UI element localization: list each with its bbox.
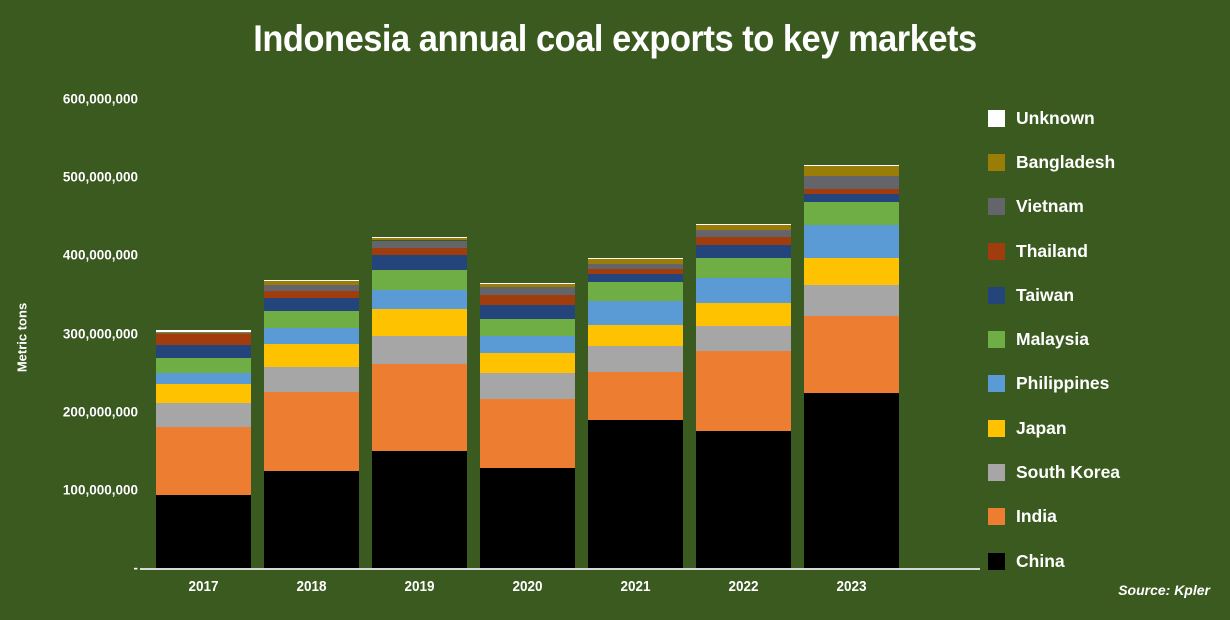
legend-label: Unknown xyxy=(1016,108,1095,129)
bar-segment-philippines[interactable] xyxy=(588,301,683,324)
bar-segment-malaysia[interactable] xyxy=(156,358,251,373)
stacked-bar[interactable] xyxy=(156,330,251,568)
bar-segment-thailand[interactable] xyxy=(696,237,791,246)
y-axis: Metric tons 600,000,000500,000,000400,00… xyxy=(0,0,148,620)
bar-segment-bangladesh[interactable] xyxy=(156,332,251,333)
y-axis-tick-label: 400,000,000 xyxy=(63,248,138,263)
legend-swatch-icon xyxy=(988,420,1005,437)
bar-group[interactable] xyxy=(804,99,899,568)
bar-segment-philippines[interactable] xyxy=(372,290,467,310)
stacked-bar[interactable] xyxy=(696,224,791,568)
legend-swatch-icon xyxy=(988,508,1005,525)
bar-group[interactable] xyxy=(156,99,251,568)
legend-label: Malaysia xyxy=(1016,329,1089,350)
legend-label: Taiwan xyxy=(1016,285,1074,306)
legend-label: Thailand xyxy=(1016,241,1088,262)
legend-item[interactable]: India xyxy=(988,495,1228,539)
axis-baseline xyxy=(140,568,980,570)
bar-group[interactable] xyxy=(696,99,791,568)
bar-segment-vietnam[interactable] xyxy=(588,264,683,269)
bar-segment-philippines[interactable] xyxy=(264,328,359,344)
bar-group[interactable] xyxy=(588,99,683,568)
bar-segment-thailand[interactable] xyxy=(480,295,575,304)
bar-segment-thailand[interactable] xyxy=(156,334,251,346)
bar-segment-india[interactable] xyxy=(156,427,251,494)
bar-segment-unknown[interactable] xyxy=(696,224,791,225)
bar-segment-taiwan[interactable] xyxy=(696,245,791,258)
bar-segment-china[interactable] xyxy=(588,420,683,568)
bar-segment-china[interactable] xyxy=(372,451,467,568)
x-axis-tick-label: 2020 xyxy=(485,578,571,595)
chart-title: Indonesia annual coal exports to key mar… xyxy=(43,18,1187,60)
bar-segment-japan[interactable] xyxy=(696,303,791,326)
legend-item[interactable]: South Korea xyxy=(988,450,1228,494)
legend-swatch-icon xyxy=(988,110,1005,127)
bar-segment-japan[interactable] xyxy=(588,325,683,346)
legend-label: Philippines xyxy=(1016,373,1109,394)
chart-container: Indonesia annual coal exports to key mar… xyxy=(0,0,1230,620)
stacked-bar[interactable] xyxy=(588,258,683,568)
bar-segment-taiwan[interactable] xyxy=(588,274,683,282)
bar-segment-vietnam[interactable] xyxy=(156,333,251,334)
bar-segment-japan[interactable] xyxy=(264,344,359,367)
bar-segment-india[interactable] xyxy=(804,316,899,393)
bar-segment-malaysia[interactable] xyxy=(588,282,683,302)
bar-segment-india[interactable] xyxy=(480,399,575,468)
chart-legend: UnknownBangladeshVietnamThailandTaiwanMa… xyxy=(988,96,1228,583)
bar-segment-china[interactable] xyxy=(156,495,251,568)
bar-segment-philippines[interactable] xyxy=(804,225,899,259)
y-axis-tick-label: - xyxy=(134,561,139,576)
bar-segment-china[interactable] xyxy=(696,431,791,568)
bar-segment-taiwan[interactable] xyxy=(156,345,251,358)
bar-segment-philippines[interactable] xyxy=(696,278,791,303)
bar-segment-japan[interactable] xyxy=(156,384,251,403)
source-note: Source: Kpler xyxy=(1118,582,1210,598)
legend-swatch-icon xyxy=(988,154,1005,171)
bar-segment-bangladesh[interactable] xyxy=(588,258,683,263)
bar-group[interactable] xyxy=(372,99,467,568)
bar-segment-philippines[interactable] xyxy=(156,373,251,385)
legend-item[interactable]: Unknown xyxy=(988,96,1228,140)
x-axis-tick-label: 2023 xyxy=(809,578,895,595)
legend-label: Bangladesh xyxy=(1016,152,1115,173)
y-axis-tick-label: 500,000,000 xyxy=(63,170,138,185)
bar-segment-thailand[interactable] xyxy=(264,291,359,298)
bar-segment-thailand[interactable] xyxy=(588,269,683,274)
legend-label: South Korea xyxy=(1016,462,1120,483)
bar-segment-south-korea[interactable] xyxy=(480,373,575,399)
bar-segment-unknown[interactable] xyxy=(372,237,467,238)
bar-segment-india[interactable] xyxy=(696,351,791,432)
legend-item[interactable]: Thailand xyxy=(988,229,1228,273)
plot-area xyxy=(148,99,978,568)
bar-segment-south-korea[interactable] xyxy=(804,285,899,316)
legend-swatch-icon xyxy=(988,553,1005,570)
legend-item[interactable]: Vietnam xyxy=(988,185,1228,229)
x-axis-tick-label: 2017 xyxy=(161,578,247,595)
legend-item[interactable]: Philippines xyxy=(988,362,1228,406)
bar-segment-japan[interactable] xyxy=(480,353,575,373)
bar-segment-china[interactable] xyxy=(480,468,575,568)
legend-label: Japan xyxy=(1016,418,1067,439)
bar-segment-japan[interactable] xyxy=(372,309,467,336)
legend-item[interactable]: Taiwan xyxy=(988,273,1228,317)
bar-segment-taiwan[interactable] xyxy=(480,305,575,319)
bar-segment-unknown[interactable] xyxy=(156,330,251,332)
bar-segment-vietnam[interactable] xyxy=(480,287,575,295)
bar-segment-south-korea[interactable] xyxy=(696,326,791,351)
bar-segment-bangladesh[interactable] xyxy=(372,237,467,240)
stacked-bar[interactable] xyxy=(372,237,467,568)
legend-label: Vietnam xyxy=(1016,196,1084,217)
bar-segment-vietnam[interactable] xyxy=(264,285,359,290)
bar-segment-japan[interactable] xyxy=(804,258,899,285)
bar-segment-malaysia[interactable] xyxy=(804,202,899,225)
legend-label: India xyxy=(1016,506,1057,527)
y-axis-tick-label: 100,000,000 xyxy=(63,482,138,497)
bar-segment-china[interactable] xyxy=(264,471,359,568)
bar-segment-unknown[interactable] xyxy=(804,165,899,166)
bar-group[interactable] xyxy=(264,99,359,568)
legend-swatch-icon xyxy=(988,464,1005,481)
bar-segment-taiwan[interactable] xyxy=(264,298,359,311)
y-axis-tick-label: 200,000,000 xyxy=(63,404,138,419)
bar-segment-unknown[interactable] xyxy=(588,258,683,259)
bar-segment-south-korea[interactable] xyxy=(156,403,251,427)
bar-segment-malaysia[interactable] xyxy=(696,258,791,278)
bar-segment-unknown[interactable] xyxy=(480,283,575,284)
bar-segment-philippines[interactable] xyxy=(480,336,575,353)
bar-segment-vietnam[interactable] xyxy=(804,176,899,189)
stacked-bar[interactable] xyxy=(804,165,899,568)
bar-segment-south-korea[interactable] xyxy=(264,367,359,392)
bar-segment-vietnam[interactable] xyxy=(696,230,791,236)
legend-label: China xyxy=(1016,551,1065,572)
bar-segment-bangladesh[interactable] xyxy=(696,225,791,230)
y-axis-tick-label: 300,000,000 xyxy=(63,326,138,341)
bar-segment-malaysia[interactable] xyxy=(264,311,359,328)
stacked-bar[interactable] xyxy=(480,283,575,568)
bar-segment-china[interactable] xyxy=(804,393,899,568)
bar-segment-south-korea[interactable] xyxy=(588,346,683,372)
bar-segment-india[interactable] xyxy=(264,392,359,471)
bar-segment-thailand[interactable] xyxy=(372,248,467,256)
legend-swatch-icon xyxy=(988,331,1005,348)
bar-segment-india[interactable] xyxy=(588,372,683,420)
bar-segment-thailand[interactable] xyxy=(804,189,899,194)
bar-group[interactable] xyxy=(480,99,575,568)
legend-swatch-icon xyxy=(988,198,1005,215)
y-axis-tick-label: 600,000,000 xyxy=(63,92,138,107)
bar-segment-south-korea[interactable] xyxy=(372,336,467,364)
bar-segment-vietnam[interactable] xyxy=(372,241,467,248)
bar-segment-malaysia[interactable] xyxy=(372,270,467,290)
x-axis-tick-label: 2019 xyxy=(377,578,463,595)
bar-segment-taiwan[interactable] xyxy=(372,255,467,270)
bar-segment-malaysia[interactable] xyxy=(480,319,575,336)
stacked-bar[interactable] xyxy=(264,280,359,568)
legend-swatch-icon xyxy=(988,375,1005,392)
bar-segment-bangladesh[interactable] xyxy=(264,281,359,285)
legend-swatch-icon xyxy=(988,243,1005,260)
bar-segment-india[interactable] xyxy=(372,364,467,451)
legend-item[interactable]: China xyxy=(988,539,1228,583)
bar-segment-taiwan[interactable] xyxy=(804,194,899,203)
bar-segment-bangladesh[interactable] xyxy=(480,284,575,287)
x-axis-tick-label: 2021 xyxy=(593,578,679,595)
legend-swatch-icon xyxy=(988,287,1005,304)
legend-item[interactable]: Bangladesh xyxy=(988,140,1228,184)
y-axis-title: Metric tons xyxy=(15,278,30,398)
x-axis-tick-label: 2018 xyxy=(269,578,355,595)
x-axis-tick-label: 2022 xyxy=(701,578,787,595)
legend-item[interactable]: Japan xyxy=(988,406,1228,450)
legend-item[interactable]: Malaysia xyxy=(988,317,1228,361)
bar-segment-bangladesh[interactable] xyxy=(804,166,899,175)
bar-segment-unknown[interactable] xyxy=(264,280,359,282)
